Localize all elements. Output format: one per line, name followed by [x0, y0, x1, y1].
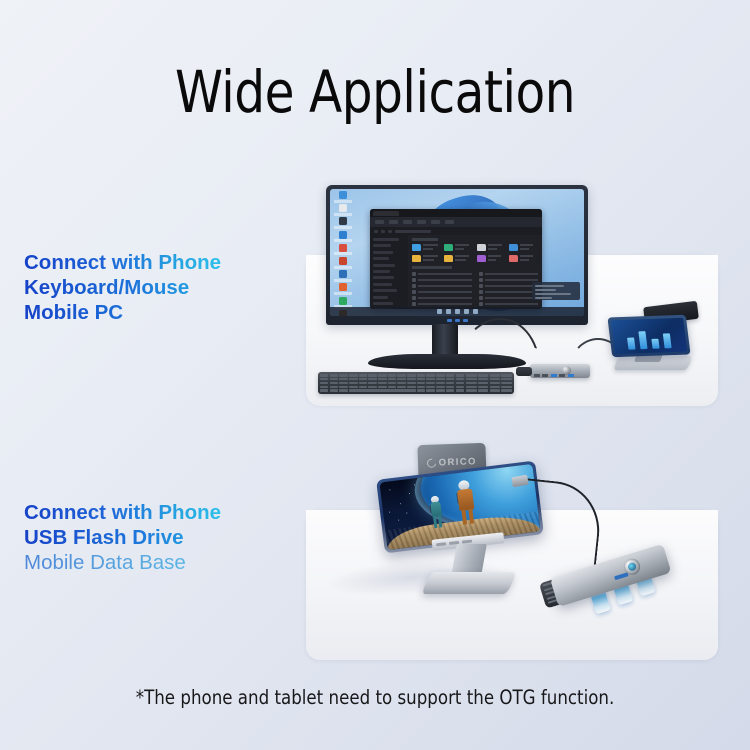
desktop-icon[interactable] [332, 244, 354, 257]
explorer-file-list [412, 272, 538, 306]
scene-phone-hub-flashdrive: ORICO [306, 424, 718, 660]
explorer-section-heading [412, 238, 438, 241]
scene-monitor-keyboard-hub [306, 168, 718, 406]
usb-c-hub-top [530, 364, 590, 378]
explorer-address-bar[interactable] [370, 227, 542, 235]
orico-wordmark: ORICO [438, 456, 477, 468]
hub-cable-connector [516, 367, 532, 376]
desktop-icon[interactable] [332, 270, 354, 283]
folder-item[interactable] [477, 244, 506, 251]
monitor [326, 185, 588, 325]
desktop-icon[interactable] [332, 283, 354, 296]
desktop-icon-column [332, 191, 354, 316]
file-row[interactable] [479, 284, 539, 288]
explorer-content-pane[interactable] [408, 235, 542, 309]
folder-item[interactable] [509, 244, 538, 251]
feature-line-2: USB Flash Drive [24, 525, 221, 550]
stand-foot [421, 572, 517, 594]
file-row[interactable] [412, 278, 472, 282]
keyboard[interactable] [318, 372, 514, 394]
suit-leg [468, 508, 474, 523]
page-title: Wide Application [26, 58, 724, 126]
folder-item[interactable] [509, 255, 538, 262]
feature-text-top: Connect with Phone Keyboard/Mouse Mobile… [24, 250, 221, 325]
file-row[interactable] [412, 302, 472, 306]
orico-folding-stand [414, 536, 524, 598]
feature-line-1: Connect with Phone [24, 500, 221, 525]
tablet [607, 315, 690, 357]
suit-leg [461, 509, 467, 524]
file-row[interactable] [412, 284, 472, 288]
suit-leg [433, 516, 437, 528]
tablet-stand-top [606, 310, 702, 374]
desktop-icon[interactable] [332, 191, 354, 204]
desktop-icon[interactable] [332, 231, 354, 244]
explorer-tab[interactable] [373, 211, 399, 216]
hub-port-row [534, 374, 574, 377]
folder-item[interactable] [477, 255, 506, 262]
suit-leg [438, 515, 442, 527]
tablet-screen [611, 318, 687, 354]
file-row[interactable] [412, 296, 472, 300]
file-row[interactable] [412, 272, 472, 276]
orico-logo: ORICO [427, 456, 477, 469]
folder-item[interactable] [412, 244, 441, 251]
feature-line-3: Mobile Data Base [24, 550, 221, 575]
file-row[interactable] [479, 302, 539, 306]
feature-line-2: Keyboard/Mouse [24, 275, 221, 300]
orico-swirl-icon [425, 456, 438, 469]
file-explorer-window[interactable] [370, 209, 542, 309]
file-row[interactable] [479, 296, 539, 300]
taskbar[interactable] [330, 307, 584, 316]
explorer-body [370, 235, 542, 309]
desktop-icon[interactable] [332, 257, 354, 270]
feature-line-3: Mobile PC [24, 300, 221, 325]
desktop-icon[interactable] [332, 204, 354, 217]
keyboard-numpad[interactable] [466, 374, 512, 392]
notification-panel[interactable] [532, 282, 580, 300]
explorer-folder-grid [412, 244, 538, 262]
explorer-section-heading [412, 266, 452, 269]
desktop-icon[interactable] [332, 217, 354, 230]
feature-line-1: Connect with Phone [24, 250, 221, 275]
file-row[interactable] [479, 272, 539, 276]
otg-footnote: *The phone and tablet need to support th… [19, 686, 732, 709]
feature-text-bottom: Connect with Phone USB Flash Drive Mobil… [24, 500, 221, 575]
monitor-screen [330, 189, 584, 316]
file-row[interactable] [412, 290, 472, 294]
folder-item[interactable] [444, 244, 473, 251]
monitor-stand-neck [432, 324, 458, 358]
keyboard-main-keys[interactable] [320, 374, 464, 392]
explorer-toolbar[interactable] [370, 217, 542, 227]
explorer-tab-bar[interactable] [370, 209, 542, 217]
file-row[interactable] [479, 290, 539, 294]
file-row[interactable] [479, 278, 539, 282]
monitor-bezel-buttons[interactable] [326, 316, 588, 324]
folder-item[interactable] [444, 255, 473, 262]
folder-item[interactable] [412, 255, 441, 262]
explorer-nav-pane[interactable] [370, 235, 408, 309]
usb-c-cable [516, 478, 604, 570]
